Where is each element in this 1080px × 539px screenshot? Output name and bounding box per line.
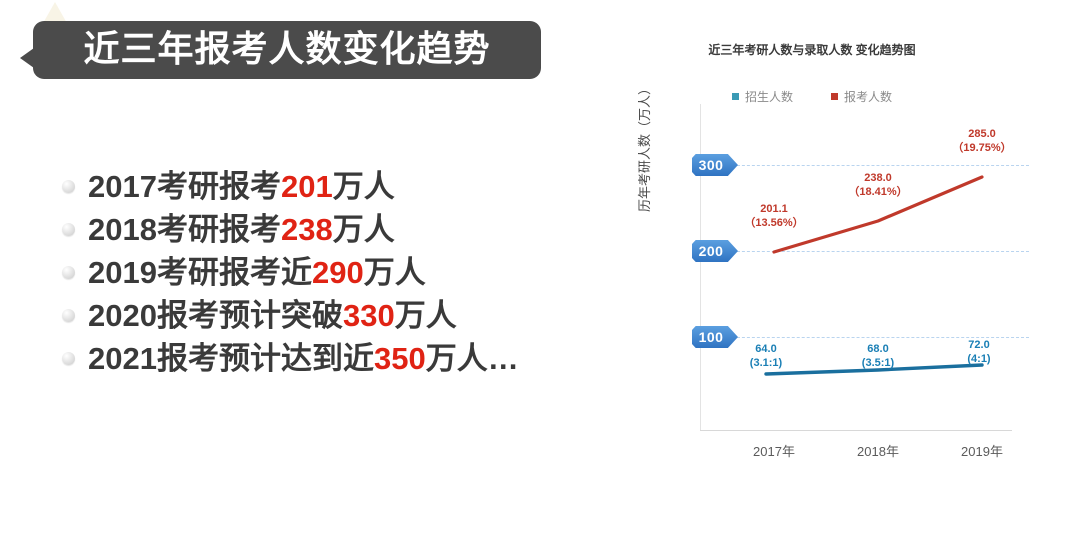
title-banner: 近三年报考人数变化趋势 bbox=[33, 21, 541, 79]
bullet-text-suffix: 万人 bbox=[364, 255, 426, 290]
data-label-annotation: (3.1:1) bbox=[711, 357, 821, 371]
data-label-enroll-2017: 64.0 (3.1:1) bbox=[711, 343, 821, 371]
legend-label-enroll: 招生人数 bbox=[745, 88, 793, 105]
bullet-text-suffix: 万人… bbox=[426, 341, 519, 376]
x-axis-line bbox=[700, 430, 1012, 431]
legend-swatch-enroll-icon bbox=[732, 93, 739, 100]
bullet-text: 2021报考预计达到近350万人… bbox=[88, 343, 519, 374]
x-axis-tick-2018: 2018年 bbox=[833, 441, 923, 460]
bullet-text: 2020报考预计突破330万人 bbox=[88, 300, 457, 331]
bullet-text-suffix: 万人 bbox=[395, 298, 457, 333]
list-item: 2020报考预计突破330万人 bbox=[62, 295, 602, 335]
page-title: 近三年报考人数变化趋势 bbox=[83, 31, 490, 69]
bullet-highlight-number: 330 bbox=[343, 298, 395, 333]
trend-chart: 近三年考研人数与录取人数 变化趋势图 招生人数 报考人数 历年考研人数（万人） … bbox=[612, 28, 1012, 458]
data-label-value: 68.0 bbox=[823, 343, 933, 357]
legend-item-enroll: 招生人数 bbox=[732, 88, 793, 105]
y-axis-title: 历年考研人数（万人） bbox=[634, 82, 653, 212]
data-label-value: 64.0 bbox=[711, 343, 821, 357]
slide-canvas: 近三年报考人数变化趋势 2017考研报考201万人 2018考研报考238万人 … bbox=[0, 0, 1080, 539]
bullet-text-prefix: 2019考研报考近 bbox=[88, 255, 312, 290]
x-axis-tick-2017: 2017年 bbox=[729, 441, 819, 460]
data-label-annotation: (4:1) bbox=[924, 353, 1034, 367]
bullet-text-prefix: 2018考研报考 bbox=[88, 212, 281, 247]
data-label-annotation: （19.75%） bbox=[927, 142, 1037, 156]
legend-label-apply: 报考人数 bbox=[844, 88, 892, 105]
data-label-enroll-2019: 72.0 (4:1) bbox=[924, 339, 1034, 367]
data-label-value: 238.0 bbox=[823, 172, 933, 186]
bullet-text-suffix: 万人 bbox=[333, 169, 395, 204]
bullet-list: 2017考研报考201万人 2018考研报考238万人 2019考研报考近290… bbox=[62, 166, 602, 381]
data-label-annotation: （18.41%） bbox=[823, 186, 933, 200]
data-label-apply-2019: 285.0 （19.75%） bbox=[927, 128, 1037, 156]
data-label-value: 72.0 bbox=[924, 339, 1034, 353]
bullet-text-suffix: 万人 bbox=[333, 212, 395, 247]
data-label-annotation: （13.56%） bbox=[719, 217, 829, 231]
chart-legend: 招生人数 报考人数 bbox=[612, 88, 1012, 105]
x-axis-tick-2019: 2019年 bbox=[937, 441, 1027, 460]
data-label-enroll-2018: 68.0 (3.5:1) bbox=[823, 343, 933, 371]
list-item: 2021报考预计达到近350万人… bbox=[62, 338, 602, 378]
data-label-apply-2017: 201.1 （13.56%） bbox=[719, 203, 829, 231]
bullet-sphere-icon bbox=[62, 180, 75, 193]
list-item: 2018考研报考238万人 bbox=[62, 209, 602, 249]
bullet-text: 2019考研报考近290万人 bbox=[88, 257, 426, 288]
bullet-highlight-number: 201 bbox=[281, 169, 333, 204]
bullet-sphere-icon bbox=[62, 266, 75, 279]
bullet-text-prefix: 2020报考预计突破 bbox=[88, 298, 343, 333]
bullet-text-prefix: 2017考研报考 bbox=[88, 169, 281, 204]
bullet-highlight-number: 290 bbox=[312, 255, 364, 290]
banner-tail-icon bbox=[20, 48, 34, 68]
bullet-text: 2017考研报考201万人 bbox=[88, 171, 395, 202]
legend-item-apply: 报考人数 bbox=[831, 88, 892, 105]
data-label-apply-2018: 238.0 （18.41%） bbox=[823, 172, 933, 200]
list-item: 2017考研报考201万人 bbox=[62, 166, 602, 206]
bullet-highlight-number: 238 bbox=[281, 212, 333, 247]
data-label-value: 285.0 bbox=[927, 128, 1037, 142]
bullet-text-prefix: 2021报考预计达到近 bbox=[88, 341, 374, 376]
bullet-sphere-icon bbox=[62, 309, 75, 322]
chart-title: 近三年考研人数与录取人数 变化趋势图 bbox=[612, 41, 1012, 58]
bullet-sphere-icon bbox=[62, 352, 75, 365]
chart-plot-area: 历年考研人数（万人） 300 200 100 201.1 （13.56%） bbox=[656, 104, 1012, 430]
data-label-annotation: (3.5:1) bbox=[823, 357, 933, 371]
bullet-text: 2018考研报考238万人 bbox=[88, 214, 395, 245]
bullet-highlight-number: 350 bbox=[374, 341, 426, 376]
list-item: 2019考研报考近290万人 bbox=[62, 252, 602, 292]
legend-swatch-apply-icon bbox=[831, 93, 838, 100]
data-label-value: 201.1 bbox=[719, 203, 829, 217]
bullet-sphere-icon bbox=[62, 223, 75, 236]
